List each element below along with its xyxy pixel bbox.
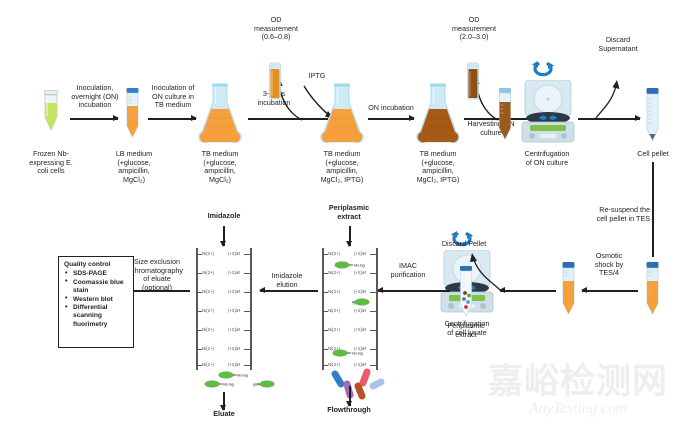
ligand-label: Ni(2+) [328, 308, 340, 313]
bound-nanobody-icon: His-tag [334, 260, 368, 270]
ligand-label: Ni(2+) [202, 362, 214, 367]
ligand-label: Ni(2+) [202, 270, 214, 275]
cell-lysate-tube-icon [560, 262, 577, 316]
arrow-imidazole-elution [260, 290, 318, 292]
quality-control-box: Quality control SDS-PAGE Coomassie blue … [58, 256, 134, 348]
ligand-label: Ni(2+) [328, 289, 340, 294]
periplasmic-extract-tube-icon [457, 266, 475, 318]
svg-text:His-tag: His-tag [223, 383, 234, 387]
bound-nanobody-icon: His-tag [332, 348, 366, 358]
label-on-incubation: ON incubation [362, 104, 420, 113]
bound-nanobody-icon: His-tag [336, 297, 370, 307]
label-discard-pellet: Discard Pellet [424, 240, 504, 249]
flowthrough-proteins-icon [325, 368, 387, 402]
ligand-label: Ni(2+) [328, 270, 340, 275]
label-imidazole-top: Imidazole [196, 212, 252, 221]
ligand-label: Ni(2+) [228, 346, 240, 351]
label-inoculation-tb: Inoculation of ON culture in TB medium [142, 84, 204, 110]
ligand-label: Ni(2+) [228, 289, 240, 294]
label-inoculation-on: Inoculation, overnight (ON) incubation [64, 84, 126, 110]
quality-control-list: SDS-PAGE Coomassie blue stain Western bl… [64, 270, 129, 329]
ligand-label: Ni(2+) [328, 327, 340, 332]
tb-medium-flask-3-icon [416, 82, 460, 144]
watermark-cn: 嘉峪检测网 [480, 364, 676, 400]
svg-text:His-tag: His-tag [354, 264, 365, 268]
watermark-en: AnyTesting.com [480, 400, 676, 418]
ligand-label: Ni(2+) [328, 251, 340, 256]
label-flowthrough: Flowthrough [318, 406, 380, 415]
label-iptg: IPTG [300, 72, 334, 81]
qc-item: SDS-PAGE [73, 270, 129, 278]
label-tb-medium-2: TB medium (+glucose, ampicillin, MgCl₂, … [310, 150, 374, 184]
label-centrifugation-on: Centrifugation of ON culture [514, 150, 580, 167]
arrow-inoculation-tb [148, 118, 196, 120]
arrow-on-incubation [368, 118, 414, 120]
ligand-label: Ni(2+) [354, 251, 366, 256]
qc-item: Differential scanning fluorimetry [73, 304, 129, 329]
qc-item: Coomassie blue stain [73, 279, 129, 296]
label-frozen-cells: Frozen Nb- expressing E. coli cells [22, 150, 80, 176]
cell-pellet-tube-icon [644, 88, 661, 142]
ligand-label: Ni(2+) [228, 251, 240, 256]
arrow-to-flowthrough [349, 386, 351, 406]
ligand-label: Ni(2+) [228, 308, 240, 313]
watermark: 嘉峪检测网 AnyTesting.com [480, 364, 676, 426]
qc-item: Western blot [73, 296, 129, 304]
label-imac-purification: IMAC purification [378, 262, 438, 279]
label-osmotic-shock: Osmotic shock by TES/4 [580, 252, 638, 278]
ligand-label: Ni(2+) [354, 289, 366, 294]
arrow-inoculation-on [70, 118, 118, 120]
on-culture-tube-icon [497, 88, 513, 142]
ligand-label: Ni(2+) [354, 270, 366, 275]
quality-control-title: Quality control [64, 261, 129, 269]
arrow-to-eluate [223, 392, 225, 410]
ligand-label: Ni(2+) [202, 251, 214, 256]
arrow-pellet-down [652, 162, 654, 257]
workflow-diagram: Frozen Nb- expressing E. coli cells Inoc… [0, 0, 680, 430]
arrow-osmotic-shock [582, 290, 638, 292]
label-od-2: OD measurement (2.0–3.0) [450, 16, 498, 42]
od-cuvette-1-icon [268, 62, 282, 100]
ligand-label: Ni(2+) [202, 308, 214, 313]
arrow-discard-supernatant [592, 76, 624, 120]
label-periplasmic-extract-top: Periplasmic extract [318, 204, 380, 221]
ligand-label: Ni(2+) [228, 362, 240, 367]
label-lb-medium: LB medium (+glucose, ampicillin, MgCl₂) [106, 150, 162, 184]
ligand-label: Ni(2+) [354, 308, 366, 313]
ligand-label: Ni(2+) [328, 362, 340, 367]
lb-medium-tube-icon [124, 88, 141, 140]
ligand-label: Ni(2+) [202, 289, 214, 294]
svg-text:His-tag: His-tag [237, 374, 248, 378]
od-cuvette-2-icon [466, 62, 480, 100]
rotation-arrows-icon-1 [528, 60, 558, 80]
imac-column-3: Ni(2+) Ni(2+) Ni(2+) Ni(2+) Ni(2+) Ni(2+… [322, 248, 378, 370]
label-od-1: OD measurement (0.6–0.8) [252, 16, 300, 42]
resuspended-pellet-tube-icon [644, 262, 661, 316]
arrow-to-centrifuge-lysate [500, 290, 556, 292]
label-tb-medium-3: TB medium (+glucose, ampicillin, MgCl₂, … [406, 150, 470, 184]
label-discard-supernatant: Discard Supernatant [592, 36, 644, 53]
ligand-label: Ni(2+) [354, 362, 366, 367]
label-periplasmic-extract-tube: Periplasmic extract [436, 322, 496, 339]
centrifuge-on-culture-icon [517, 80, 579, 144]
tb-medium-flask-1-icon [198, 82, 242, 144]
label-resuspend: Re-suspend the cell pellet in TES [588, 206, 650, 223]
ligand-label: Ni(2+) [228, 270, 240, 275]
label-eluate: Eluate [196, 410, 252, 419]
ligand-label: Ni(2+) [228, 327, 240, 332]
svg-text:His-tag: His-tag [352, 352, 363, 356]
arrow-imidazole-into-column [223, 226, 225, 246]
label-imidazole-elution: Imidazole elution [258, 272, 316, 289]
tb-medium-flask-2-icon [320, 82, 364, 144]
ligand-label: Ni(2+) [202, 346, 214, 351]
arrow-periplasmic-into-column [349, 226, 351, 246]
ligand-label: Ni(2+) [354, 327, 366, 332]
ligand-label: Ni(2+) [202, 327, 214, 332]
label-tb-medium-1: TB medium (+glucose, ampicillin, MgCl₂) [190, 150, 250, 184]
arrow-imac-purification [378, 290, 450, 292]
imac-column-2: Ni(2+) Ni(2+) Ni(2+) Ni(2+) Ni(2+) Ni(2+… [196, 248, 252, 370]
frozen-cells-tube-icon [40, 90, 62, 136]
eluate-nanobodies-icon: His-tag His-tag His-tag [202, 370, 278, 392]
label-cell-pellet: Cell pellet [628, 150, 678, 159]
